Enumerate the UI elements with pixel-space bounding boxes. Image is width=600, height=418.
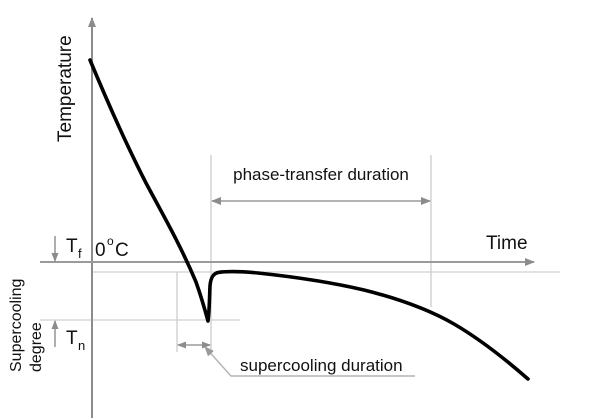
tf-label-main: T: [66, 236, 78, 257]
supercooling-degree-label-line2: degree: [28, 322, 45, 372]
freezing-point-value: 0: [95, 240, 106, 261]
tf-label-subscript: f: [78, 246, 82, 261]
degree-symbol-icon: o: [107, 234, 114, 248]
freezing-point-unit: C: [115, 240, 129, 261]
freezing-point-label: 0 o C: [95, 234, 129, 261]
tn-label-main: T: [66, 328, 78, 349]
supercooling-curve-figure: Temperature Time 0 o C T f T n Supercool…: [0, 0, 600, 418]
phase-transfer-duration-label: phase-transfer duration: [233, 165, 409, 184]
temperature-curve: [90, 60, 528, 379]
supercooling-duration-label: supercooling duration: [240, 356, 403, 375]
tn-label: T n: [66, 328, 85, 353]
temperature-axis-label: Temperature: [55, 35, 76, 142]
tf-label: T f: [66, 236, 82, 261]
time-axis-label: Time: [486, 233, 528, 254]
supercooling-degree-label-line1: Supercooling: [8, 279, 25, 372]
tn-label-subscript: n: [78, 338, 85, 353]
chart-canvas: Temperature Time 0 o C T f T n Supercool…: [0, 0, 600, 418]
